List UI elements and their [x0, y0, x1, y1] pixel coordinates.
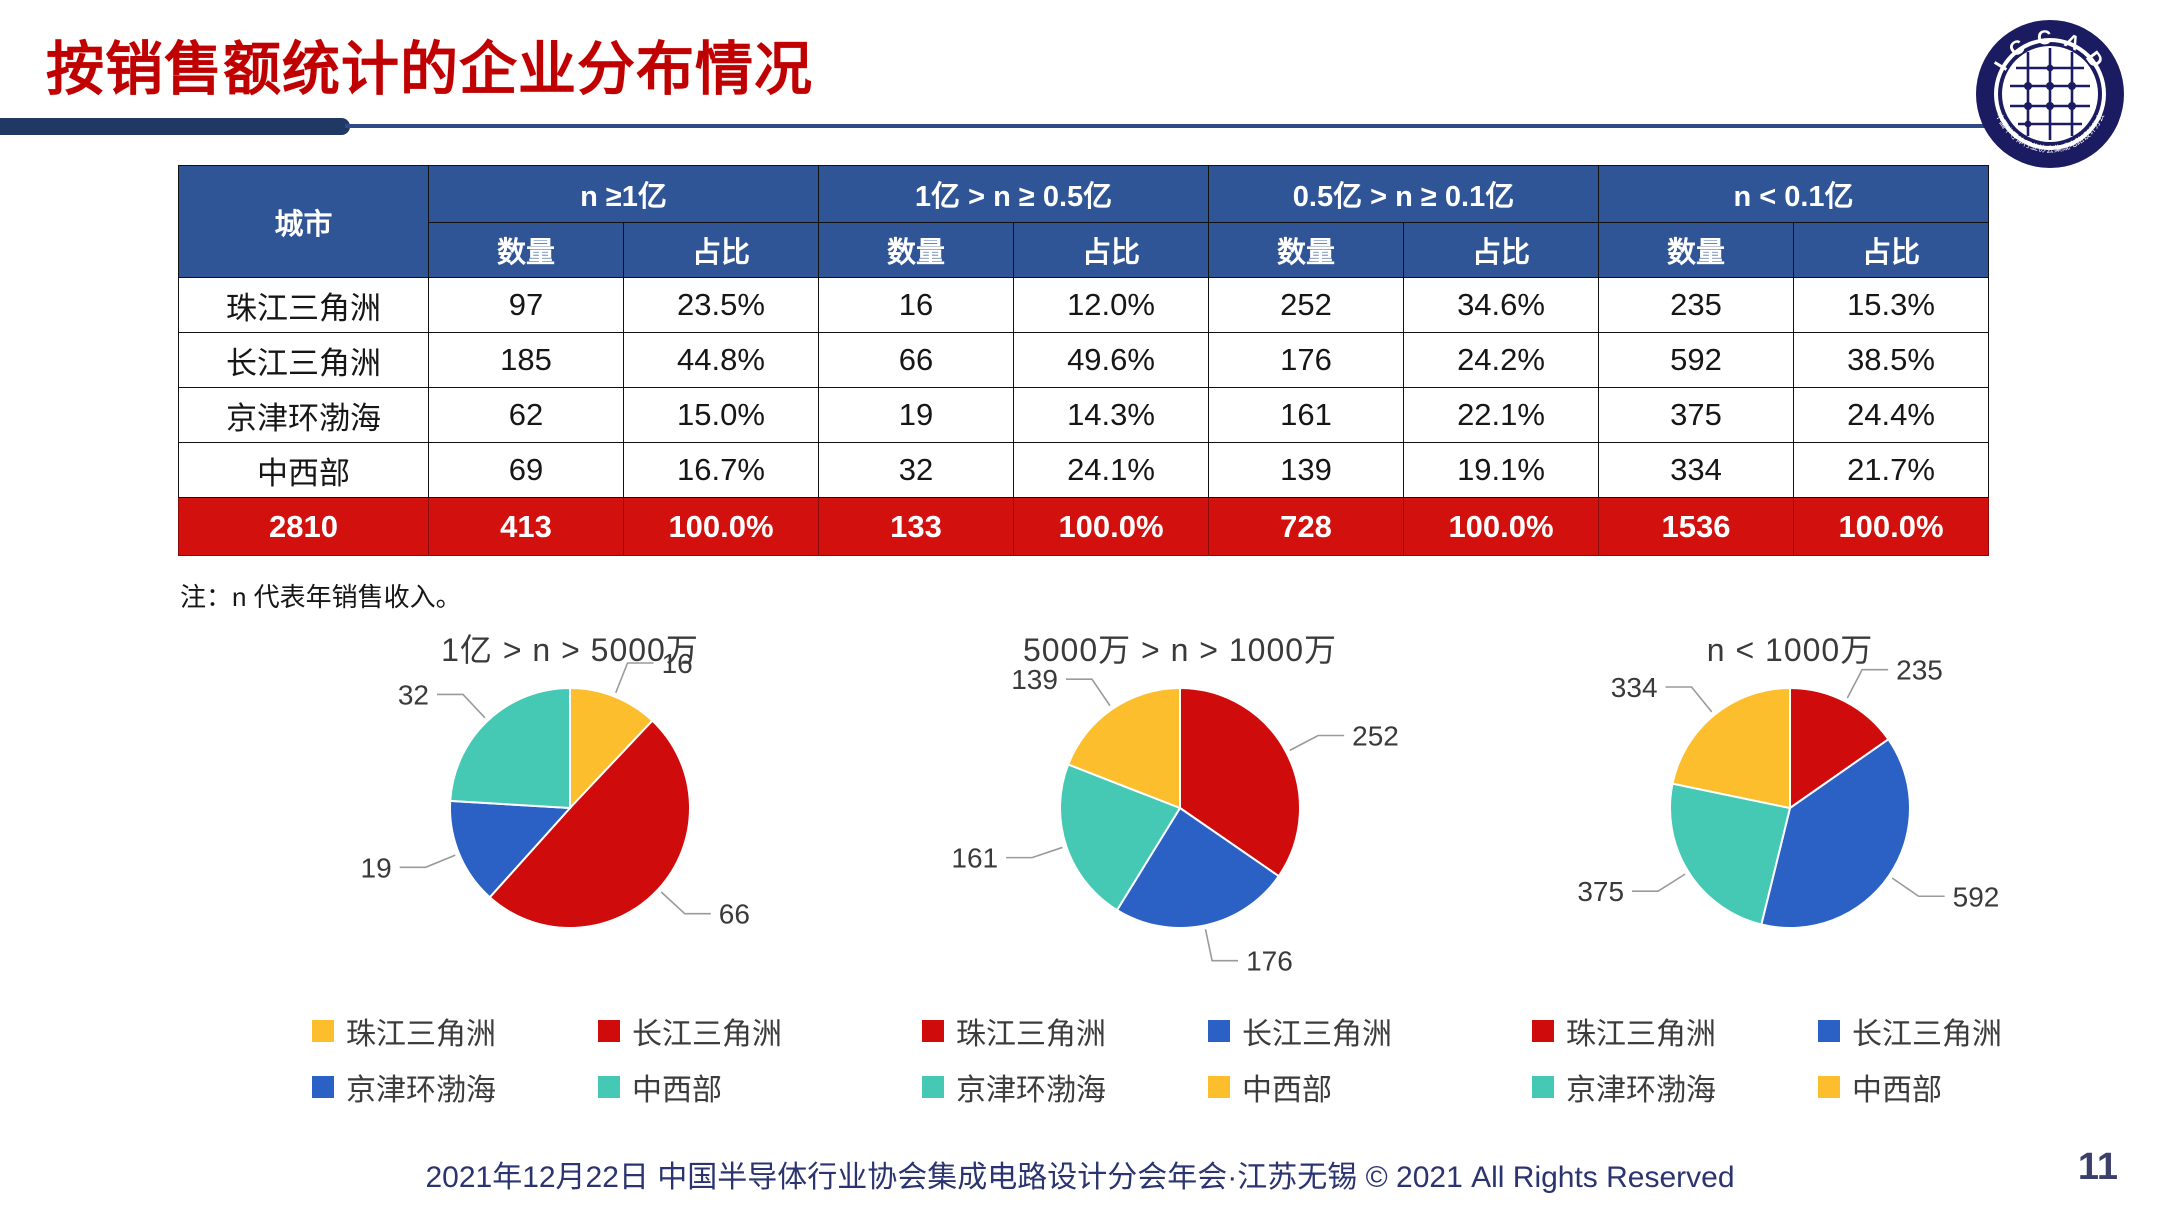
- pie-slice-label: 19: [361, 852, 392, 883]
- pie-legend-0: 珠江三角洲长江三角洲京津环渤海中西部: [260, 1009, 880, 1109]
- cell-value: 24.2%: [1404, 333, 1599, 388]
- cell-value: 23.5%: [624, 278, 819, 333]
- pie-slice-label: 66: [719, 899, 750, 930]
- total-cell: 413: [429, 498, 624, 556]
- cell-value: 49.6%: [1014, 333, 1209, 388]
- pie-canvas-1: 252176161139: [870, 663, 1490, 953]
- pie-chart-0: 1亿 > n > 5000万 16661932 珠江三角洲长江三角洲京津环渤海中…: [260, 625, 880, 1115]
- pie-canvas-0: 16661932: [260, 663, 880, 953]
- legend-label: 长江三角洲: [632, 1009, 782, 1053]
- total-cell: 100.0%: [1794, 498, 1989, 556]
- cell-value: 19.1%: [1404, 443, 1599, 498]
- cell-value: 16: [819, 278, 1014, 333]
- legend-label: 中西部: [1242, 1065, 1332, 1109]
- legend-swatch-icon: [598, 1020, 620, 1042]
- pie-slice-label: 334: [1611, 672, 1658, 703]
- legend-item[interactable]: 珠江三角洲: [1532, 1009, 1716, 1053]
- cell-value: 252: [1209, 278, 1404, 333]
- legend-label: 中西部: [632, 1065, 722, 1109]
- slide-root: 按销售额统计的企业分布情况 I C: [0, 0, 2160, 1216]
- pie-chart-group: 1亿 > n > 5000万 16661932 珠江三角洲长江三角洲京津环渤海中…: [0, 625, 2160, 1115]
- total-cell: 100.0%: [1014, 498, 1209, 556]
- pie-slice-label: 32: [398, 679, 429, 710]
- col-header-qty-1: 数量: [429, 223, 624, 278]
- slide-footer: 2021年12月22日 中国半导体行业协会集成电路设计分会年会·江苏无锡 © 2…: [0, 1152, 2160, 1196]
- group-header-3: 0.5亿 > n ≥ 0.1亿: [1209, 166, 1599, 223]
- legend-label: 长江三角洲: [1242, 1009, 1392, 1053]
- total-cell: 133: [819, 498, 1014, 556]
- page-number: 11: [2078, 1146, 2118, 1189]
- distribution-table: 城市 n ≥1亿 1亿 > n ≥ 0.5亿 0.5亿 > n ≥ 0.1亿 n…: [178, 165, 1988, 556]
- cell-value: 334: [1599, 443, 1794, 498]
- table-row: 长江三角洲 185 44.8% 66 49.6% 176 24.2% 592 3…: [179, 333, 1989, 388]
- legend-label: 珠江三角洲: [1566, 1009, 1716, 1053]
- col-header-qty-4: 数量: [1599, 223, 1794, 278]
- legend-item[interactable]: 中西部: [1818, 1065, 1942, 1109]
- pie-chart-2: n < 1000万 235592375334 珠江三角洲长江三角洲京津环渤海中西…: [1480, 625, 2100, 1115]
- cell-region: 长江三角洲: [179, 333, 429, 388]
- cell-value: 34.6%: [1404, 278, 1599, 333]
- pie-slice-label: 252: [1352, 721, 1399, 752]
- total-cell: 100.0%: [1404, 498, 1599, 556]
- pie-slice-label: 139: [1011, 664, 1058, 695]
- cell-value: 66: [819, 333, 1014, 388]
- cell-value: 176: [1209, 333, 1404, 388]
- pie-slice-label: 592: [1953, 881, 2000, 912]
- col-header-pct-4: 占比: [1794, 223, 1989, 278]
- cell-value: 21.7%: [1794, 443, 1989, 498]
- cell-value: 69: [429, 443, 624, 498]
- legend-swatch-icon: [1532, 1020, 1554, 1042]
- cell-value: 15.3%: [1794, 278, 1989, 333]
- pie-legend-2: 珠江三角洲长江三角洲京津环渤海中西部: [1480, 1009, 2100, 1109]
- col-header-pct-3: 占比: [1404, 223, 1599, 278]
- cell-value: 62: [429, 388, 624, 443]
- pie-slice-label: 16: [662, 648, 693, 679]
- cell-value: 185: [429, 333, 624, 388]
- legend-item[interactable]: 中西部: [598, 1065, 722, 1109]
- cell-value: 15.0%: [624, 388, 819, 443]
- cell-value: 592: [1599, 333, 1794, 388]
- col-header-qty-3: 数量: [1209, 223, 1404, 278]
- cell-value: 16.7%: [624, 443, 819, 498]
- legend-item[interactable]: 京津环渤海: [1532, 1065, 1716, 1109]
- legend-label: 珠江三角洲: [956, 1009, 1106, 1053]
- pie-slice-label: 161: [951, 843, 998, 874]
- table-row: 珠江三角洲 97 23.5% 16 12.0% 252 34.6% 235 15…: [179, 278, 1989, 333]
- cell-value: 32: [819, 443, 1014, 498]
- title-rule-thick: [0, 118, 350, 135]
- col-header-pct-1: 占比: [624, 223, 819, 278]
- cell-value: 161: [1209, 388, 1404, 443]
- table-body: 珠江三角洲 97 23.5% 16 12.0% 252 34.6% 235 15…: [179, 278, 1989, 556]
- pie-slice-label: 235: [1896, 655, 1943, 686]
- cell-value: 24.1%: [1014, 443, 1209, 498]
- pie-slice-label: 176: [1246, 946, 1293, 977]
- legend-item[interactable]: 珠江三角洲: [312, 1009, 496, 1053]
- pie-chart-1: 5000万 > n > 1000万 252176161139 珠江三角洲长江三角…: [870, 625, 1490, 1115]
- cell-region: 京津环渤海: [179, 388, 429, 443]
- legend-swatch-icon: [1818, 1020, 1840, 1042]
- legend-item[interactable]: 京津环渤海: [922, 1065, 1106, 1109]
- legend-item[interactable]: 珠江三角洲: [922, 1009, 1106, 1053]
- pie-canvas-2: 235592375334: [1480, 663, 2100, 953]
- cell-value: 22.1%: [1404, 388, 1599, 443]
- total-cell: 100.0%: [624, 498, 819, 556]
- cell-value: 139: [1209, 443, 1404, 498]
- legend-item[interactable]: 长江三角洲: [598, 1009, 782, 1053]
- legend-swatch-icon: [312, 1076, 334, 1098]
- group-header-1: n ≥1亿: [429, 166, 819, 223]
- table-row: 中西部 69 16.7% 32 24.1% 139 19.1% 334 21.7…: [179, 443, 1989, 498]
- group-header-2: 1亿 > n ≥ 0.5亿: [819, 166, 1209, 223]
- cell-value: 375: [1599, 388, 1794, 443]
- cell-region: 中西部: [179, 443, 429, 498]
- legend-label: 珠江三角洲: [346, 1009, 496, 1053]
- pie-slice-label: 375: [1577, 876, 1624, 907]
- legend-item[interactable]: 中西部: [1208, 1065, 1332, 1109]
- pie-legend-1: 珠江三角洲长江三角洲京津环渤海中西部: [870, 1009, 1490, 1109]
- cell-region: 珠江三角洲: [179, 278, 429, 333]
- legend-label: 京津环渤海: [1566, 1065, 1716, 1109]
- table-total-row: 2810 413 100.0% 133 100.0% 728 100.0% 15…: [179, 498, 1989, 556]
- col-header-qty-2: 数量: [819, 223, 1014, 278]
- cell-value: 14.3%: [1014, 388, 1209, 443]
- total-cell: 728: [1209, 498, 1404, 556]
- table-note: 注：n 代表年销售收入。: [180, 577, 462, 614]
- table-header: 城市 n ≥1亿 1亿 > n ≥ 0.5亿 0.5亿 > n ≥ 0.1亿 n…: [179, 166, 1989, 278]
- cell-value: 38.5%: [1794, 333, 1989, 388]
- legend-swatch-icon: [922, 1020, 944, 1042]
- cell-value: 235: [1599, 278, 1794, 333]
- total-cell: 2810: [179, 498, 429, 556]
- legend-swatch-icon: [598, 1076, 620, 1098]
- cell-value: 24.4%: [1794, 388, 1989, 443]
- table-row: 京津环渤海 62 15.0% 19 14.3% 161 22.1% 375 24…: [179, 388, 1989, 443]
- legend-swatch-icon: [1818, 1076, 1840, 1098]
- group-header-4: n < 0.1亿: [1599, 166, 1989, 223]
- cell-value: 44.8%: [624, 333, 819, 388]
- legend-label: 京津环渤海: [956, 1065, 1106, 1109]
- total-cell: 1536: [1599, 498, 1794, 556]
- legend-swatch-icon: [1208, 1076, 1230, 1098]
- legend-label: 中西部: [1852, 1065, 1942, 1109]
- legend-item[interactable]: 京津环渤海: [312, 1065, 496, 1109]
- legend-swatch-icon: [922, 1076, 944, 1098]
- legend-item[interactable]: 长江三角洲: [1208, 1009, 1392, 1053]
- cell-value: 97: [429, 278, 624, 333]
- legend-swatch-icon: [1208, 1020, 1230, 1042]
- iccad-logo: I C C A D 中国半导体行业协会集成电路设计分会: [1972, 16, 2128, 172]
- legend-swatch-icon: [1532, 1076, 1554, 1098]
- legend-item[interactable]: 长江三角洲: [1818, 1009, 2002, 1053]
- cell-value: 19: [819, 388, 1014, 443]
- col-header-pct-2: 占比: [1014, 223, 1209, 278]
- legend-label: 京津环渤海: [346, 1065, 496, 1109]
- legend-label: 长江三角洲: [1852, 1009, 2002, 1053]
- header-city: 城市: [179, 166, 429, 278]
- cell-value: 12.0%: [1014, 278, 1209, 333]
- page-title: 按销售额统计的企业分布情况: [46, 22, 813, 106]
- legend-swatch-icon: [312, 1020, 334, 1042]
- title-rule-thin: [345, 124, 2015, 128]
